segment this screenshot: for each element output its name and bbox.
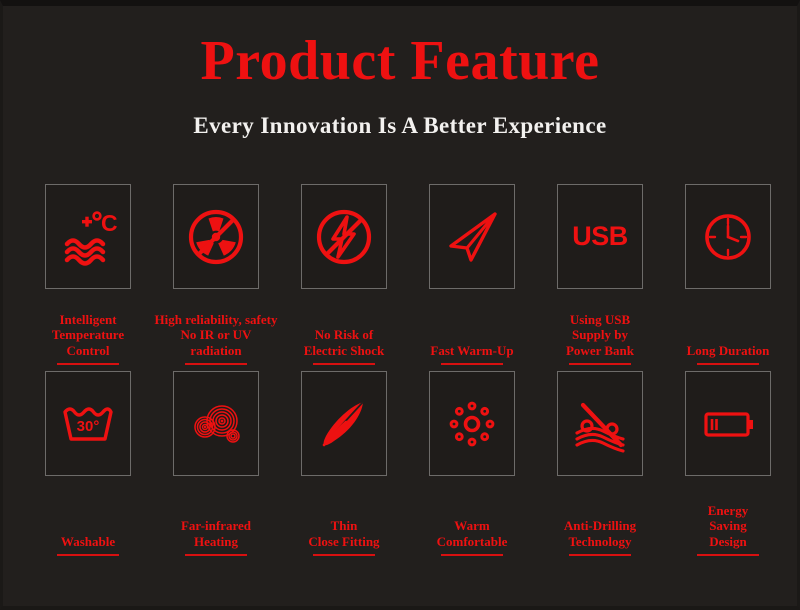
feature-caption: Energy Saving Design: [666, 476, 790, 556]
feature-row-1: C Intelligent Temperature Control: [3, 184, 800, 365]
feature-caption: Far-infrared Heating: [154, 476, 278, 556]
feature-caption: Thin Close Fitting: [282, 476, 406, 556]
feather-icon: [313, 393, 375, 455]
feature-label: Intelligent Temperature Control: [52, 312, 124, 358]
feature-icon-card: [685, 371, 771, 476]
caption-underline: [185, 363, 247, 365]
feature-icon-card: [173, 184, 259, 289]
feature-icon-card: C: [45, 184, 131, 289]
feature-icon-card: [173, 371, 259, 476]
feature-label: Energy Saving Design: [708, 503, 748, 549]
feature-item-long-duration: Long Duration: [664, 184, 792, 365]
feature-label: Thin Close Fitting: [308, 518, 379, 549]
feature-icon-card: 30°: [45, 371, 131, 476]
page-subtitle: Every Innovation Is A Better Experience: [3, 113, 797, 139]
feature-item-washable: 30° Washable: [24, 371, 152, 556]
caption-underline: [569, 363, 631, 365]
feature-item-anti-drilling-technology: Anti-Drilling Technology: [536, 371, 664, 556]
svg-text:30°: 30°: [77, 418, 100, 435]
feature-icon-card: [429, 371, 515, 476]
sun-dots-icon: [441, 393, 503, 455]
feature-item-no-electric-shock: No Risk of Electric Shock: [280, 184, 408, 365]
feature-item-no-radiation: High reliability, safety No IR or UV rad…: [152, 184, 280, 365]
battery-icon: [697, 393, 759, 455]
paper-plane-icon: [441, 206, 503, 268]
feature-caption: Anti-Drilling Technology: [538, 476, 662, 556]
feature-icon-card: [301, 371, 387, 476]
caption-underline: [441, 554, 503, 556]
poster-header: Product Feature Every Innovation Is A Be…: [3, 6, 797, 139]
needle-fabric-icon: [569, 393, 631, 455]
caption-underline: [57, 363, 119, 365]
feature-icon-card: [301, 184, 387, 289]
feature-label: No Risk of Electric Shock: [304, 327, 385, 358]
feature-label: Far-infrared Heating: [181, 518, 251, 549]
feature-label: Washable: [61, 534, 115, 549]
usb-icon: USB: [572, 221, 628, 252]
feature-caption: Long Duration: [666, 289, 790, 365]
caption-underline: [697, 554, 759, 556]
feature-item-usb-power: USB Using USB Supply by Power Bank: [536, 184, 664, 365]
feature-caption: Intelligent Temperature Control: [26, 289, 150, 365]
feature-label: Warm Comfortable: [437, 518, 508, 549]
feature-label: Using USB Supply by Power Bank: [566, 312, 634, 358]
feature-item-far-infrared-heating: Far-infrared Heating: [152, 371, 280, 556]
feature-caption: Using USB Supply by Power Bank: [538, 289, 662, 365]
product-feature-poster: Product Feature Every Innovation Is A Be…: [0, 0, 800, 610]
caption-underline: [313, 554, 375, 556]
feature-item-thin-close-fitting: Thin Close Fitting: [280, 371, 408, 556]
svg-text:C: C: [101, 210, 118, 236]
feature-item-intelligent-temperature-control: C Intelligent Temperature Control: [24, 184, 152, 365]
feature-item-energy-saving-design: Energy Saving Design: [664, 371, 792, 556]
no-electric-shock-icon: [313, 206, 375, 268]
page-title: Product Feature: [3, 32, 797, 91]
feature-grid: C Intelligent Temperature Control: [3, 184, 800, 562]
feature-icon-card: USB: [557, 184, 643, 289]
feature-label: Long Duration: [687, 343, 770, 358]
caption-underline: [313, 363, 375, 365]
caption-underline: [57, 554, 119, 556]
infrared-waves-icon: [185, 393, 247, 455]
caption-underline: [697, 363, 759, 365]
feature-icon-card: [429, 184, 515, 289]
feature-row-2: 30° Washable: [3, 371, 800, 556]
feature-item-fast-warm-up: Fast Warm-Up: [408, 184, 536, 365]
feature-caption: Warm Comfortable: [410, 476, 534, 556]
feature-icon-card: [685, 184, 771, 289]
caption-underline: [569, 554, 631, 556]
caption-underline: [441, 363, 503, 365]
feature-label: Anti-Drilling Technology: [564, 518, 636, 549]
feature-label: Fast Warm-Up: [430, 343, 513, 358]
feature-caption: Fast Warm-Up: [410, 289, 534, 365]
no-radiation-icon: [185, 206, 247, 268]
temperature-waves-icon: C: [57, 206, 119, 268]
clock-icon: [697, 206, 759, 268]
feature-label: High reliability, safety No IR or UV rad…: [154, 312, 278, 358]
feature-caption: Washable: [26, 476, 150, 556]
feature-item-warm-comfortable: Warm Comfortable: [408, 371, 536, 556]
wash-tub-icon: 30°: [57, 393, 119, 455]
caption-underline: [185, 554, 247, 556]
feature-caption: No Risk of Electric Shock: [282, 289, 406, 365]
feature-icon-card: [557, 371, 643, 476]
feature-caption: High reliability, safety No IR or UV rad…: [154, 289, 278, 365]
